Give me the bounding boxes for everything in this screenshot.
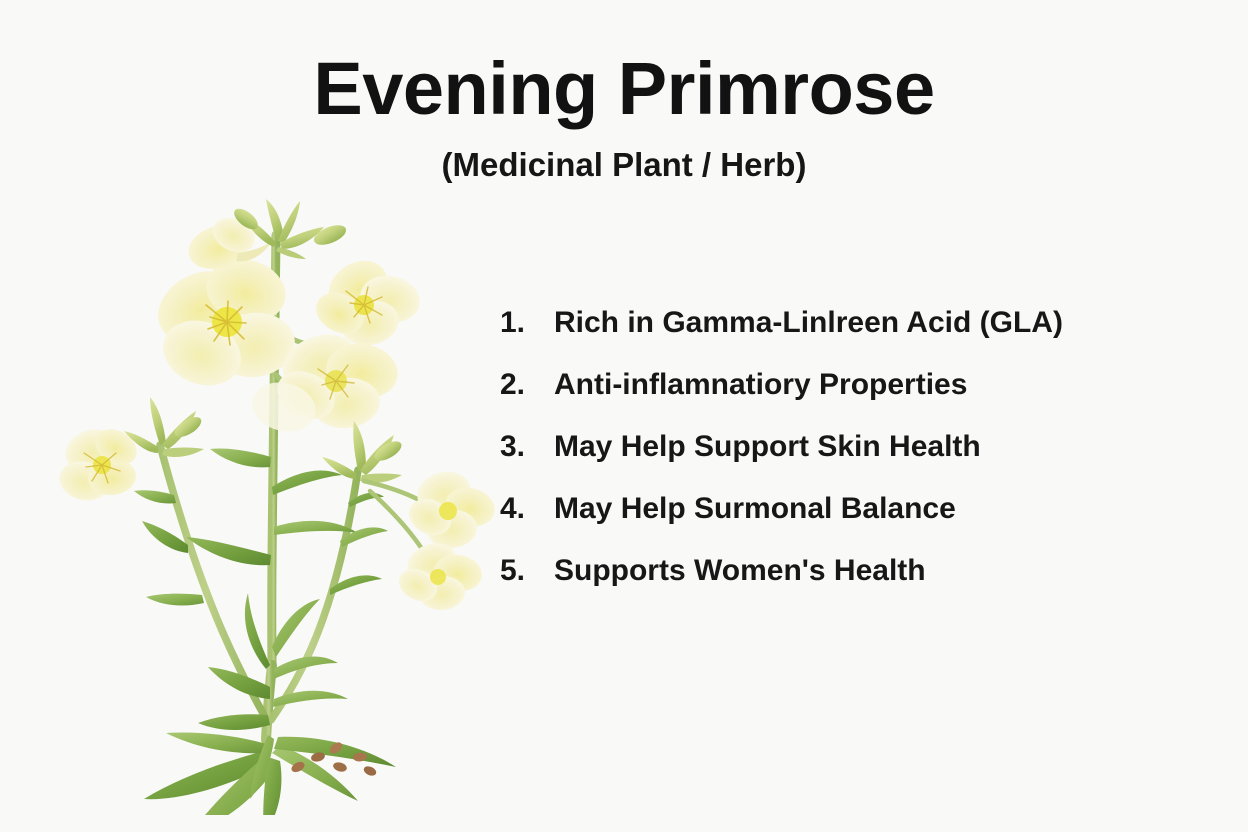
list-item-label: Rich in Gamma-Linlreen Acid (GLA) [554, 292, 1200, 354]
list-item: 3. May Help Support Skin Health [500, 416, 1200, 478]
flower-left-branch [55, 397, 205, 506]
poster-canvas: Evening Primrose (Medicinal Plant / Herb… [0, 0, 1248, 832]
list-item-label: May Help Surmonal Balance [554, 478, 1200, 540]
list-item: 1. Rich in Gamma-Linlreen Acid (GLA) [500, 292, 1200, 354]
list-item-number: 5. [500, 540, 554, 602]
list-item-number: 4. [500, 478, 554, 540]
list-item: 5. Supports Women's Health [500, 540, 1200, 602]
list-item-number: 2. [500, 354, 554, 416]
list-item: 2. Anti-inflamnatiory Properties [500, 354, 1200, 416]
page-title: Evening Primrose [0, 52, 1248, 126]
benefits-list: 1. Rich in Gamma-Linlreen Acid (GLA) 2. … [500, 292, 1200, 602]
page-subtitle: (Medicinal Plant / Herb) [0, 148, 1248, 181]
evening-primrose-illustration [40, 195, 510, 815]
list-item-label: May Help Support Skin Health [554, 416, 1200, 478]
list-item-label: Anti-inflamnatiory Properties [554, 354, 1200, 416]
list-item-number: 1. [500, 292, 554, 354]
list-item: 4. May Help Surmonal Balance [500, 478, 1200, 540]
list-item-number: 3. [500, 416, 554, 478]
list-item-label: Supports Women's Health [554, 540, 1200, 602]
plant-drawing [40, 195, 510, 815]
